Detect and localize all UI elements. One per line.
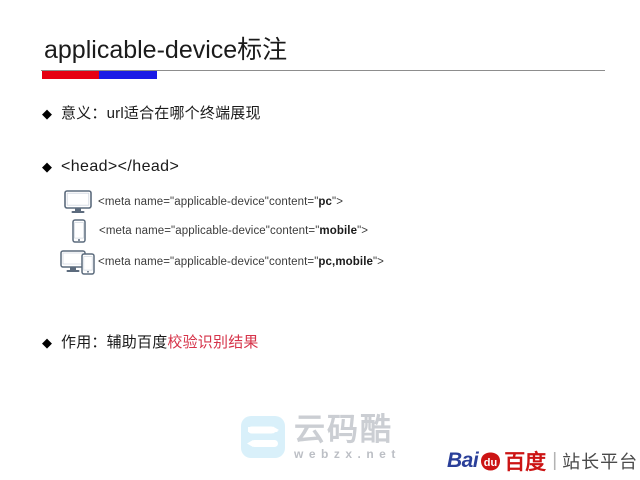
bullet-label-meaning: 意义：url适合在哪个终端展现 (61, 102, 261, 123)
meta-code-value: mobile (319, 225, 357, 237)
baidu-chinese-text: 百度 (504, 446, 546, 476)
meta-code-prefix: <meta name="applicable-device"content=" (99, 225, 319, 237)
diamond-bullet-icon: ◆ (42, 336, 52, 349)
title-accent-bar (42, 71, 157, 79)
bullet-label-head-tag: <head></head> (61, 158, 179, 176)
mobile-phone-icon (62, 219, 96, 243)
meta-code-mobile: <meta name="applicable-device"content="m… (99, 225, 368, 237)
bullet-label-usage-plain: 作用：辅助百度 (61, 334, 167, 351)
meta-code-value: pc (318, 196, 332, 208)
meta-code-prefix: <meta name="applicable-device"content=" (98, 256, 318, 268)
accent-bar-blue (99, 71, 157, 79)
meta-row-pc-mobile: <meta name="applicable-device"content="p… (58, 249, 384, 275)
svg-text:du: du (484, 457, 497, 469)
diamond-bullet-icon: ◆ (42, 107, 52, 120)
slide-canvas: applicable-device标注 ◆ 意义：url适合在哪个终端展现 ◆ … (0, 0, 640, 480)
watermark: 云码酷 webzx.net (240, 414, 401, 460)
diamond-bullet-icon: ◆ (42, 160, 52, 173)
watermark-text: 云码酷 webzx.net (294, 414, 401, 460)
watermark-title: 云码酷 (294, 414, 401, 445)
meta-row-pc: <meta name="applicable-device"content="p… (60, 190, 343, 214)
meta-code-pc-mobile: <meta name="applicable-device"content="p… (98, 256, 384, 268)
meta-row-mobile: <meta name="applicable-device"content="m… (62, 219, 368, 243)
desktop-monitor-icon (60, 190, 96, 214)
baidu-separator: | (552, 450, 557, 472)
baidu-platform-text: 站长平台 (562, 448, 638, 474)
page-title: applicable-device标注 (44, 30, 287, 66)
meta-code-suffix: "> (373, 256, 384, 268)
bullet-item-meaning: ◆ 意义：url适合在哪个终端展现 (42, 102, 261, 123)
meta-code-value: pc,mobile (318, 256, 373, 268)
baidu-bai-text: Bai (447, 449, 478, 473)
accent-bar-red (42, 71, 99, 79)
bullet-label-usage-highlight: 校验识别结果 (167, 334, 258, 351)
meta-code-pc: <meta name="applicable-device"content="p… (98, 196, 343, 208)
bullet-item-head-tag: ◆ <head></head> (42, 158, 179, 176)
bullet-item-usage: ◆ 作用：辅助百度校验识别结果 (42, 331, 259, 352)
baidu-logo: Bai du 百度 | 站长平台 (447, 446, 638, 476)
watermark-logo-icon (240, 414, 286, 460)
bullet-label-usage: 作用：辅助百度校验识别结果 (61, 331, 259, 352)
desktop-and-phone-icon (58, 249, 98, 275)
watermark-domain: webzx.net (294, 448, 401, 460)
meta-code-prefix: <meta name="applicable-device"content=" (98, 196, 318, 208)
meta-code-suffix: "> (357, 225, 368, 237)
meta-code-suffix: "> (332, 196, 343, 208)
baidu-paw-icon: du (479, 451, 502, 472)
